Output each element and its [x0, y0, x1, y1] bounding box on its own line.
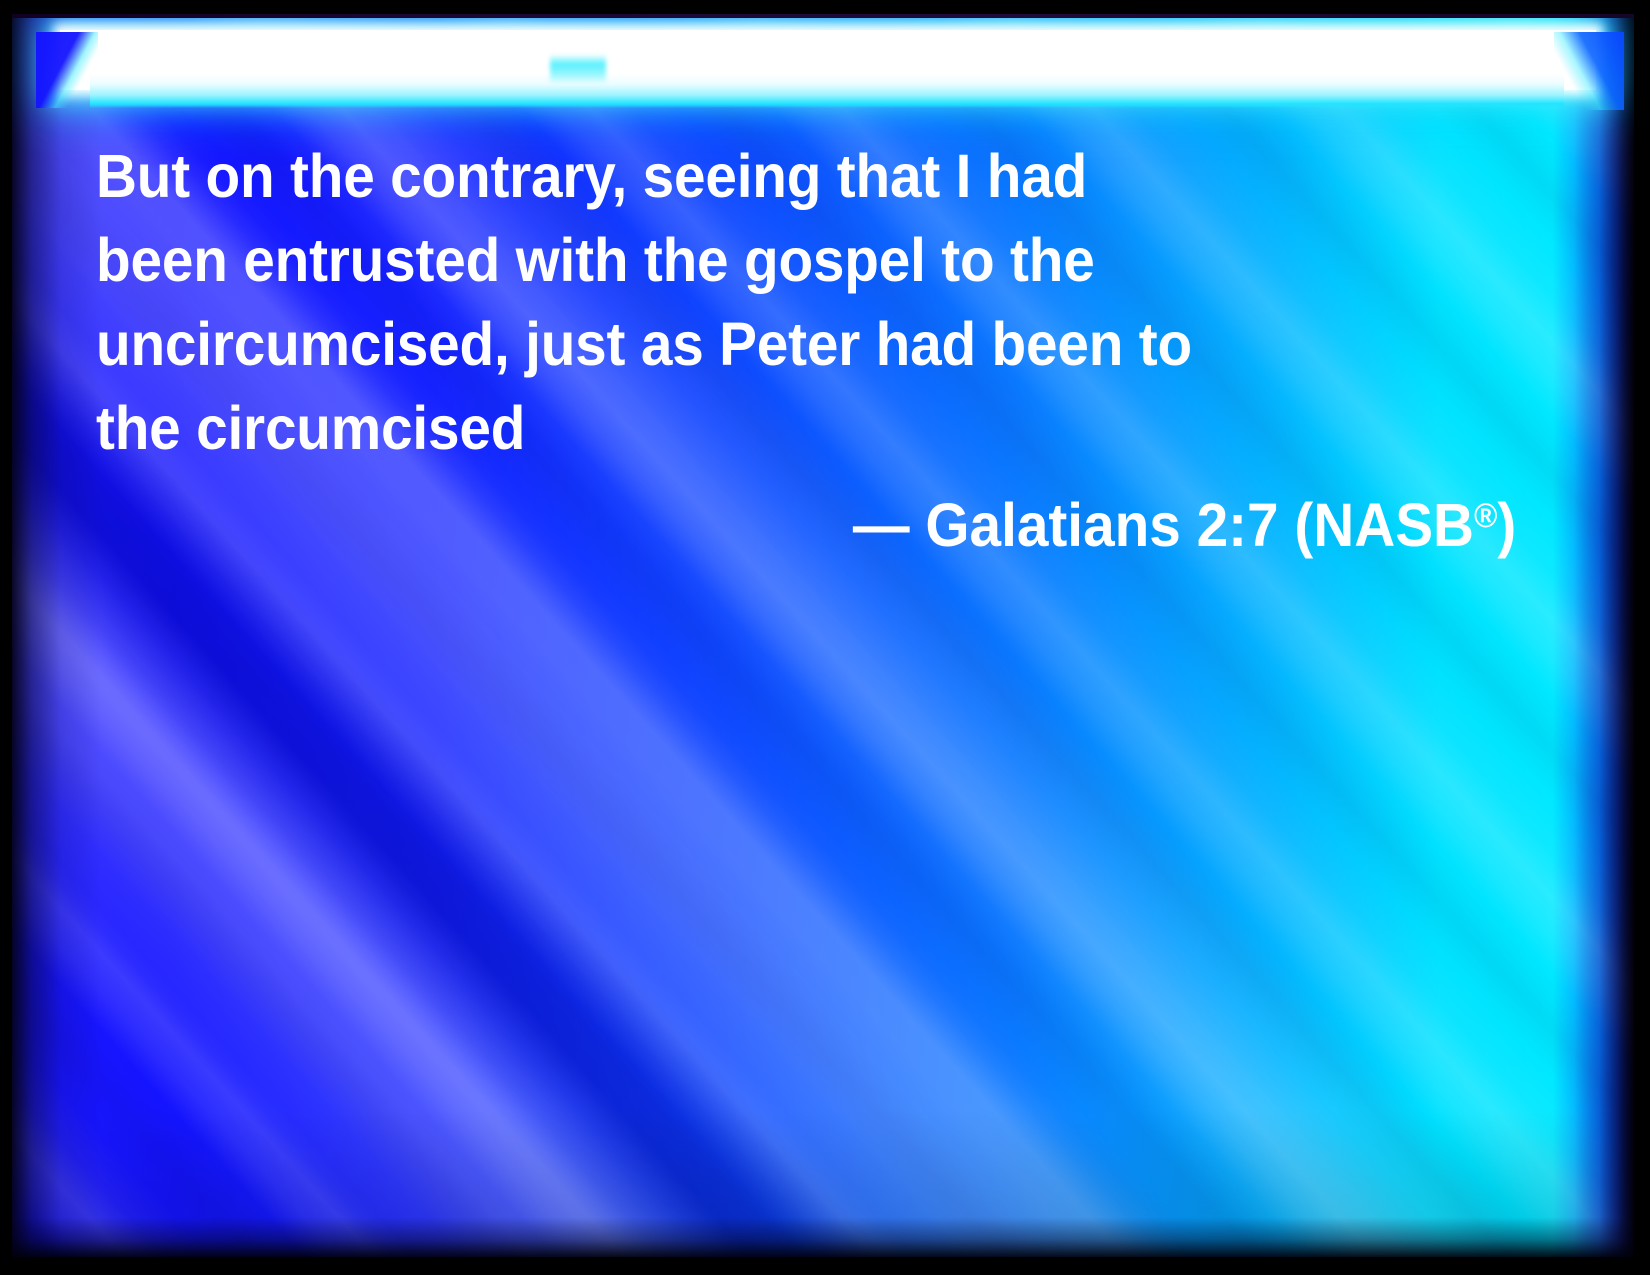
slide-background-panel: But on the contrary, seeing that I had b…: [12, 14, 1634, 1257]
verse-slide: But on the contrary, seeing that I had b…: [0, 0, 1650, 1275]
verse-text-block: But on the contrary, seeing that I had b…: [96, 134, 1496, 470]
verse-line-3: uncircumcised, just as Peter had been to: [96, 302, 1398, 386]
glow-bar-right-taper: [1554, 32, 1624, 110]
verse-line-2: been entrusted with the gospel to the: [96, 218, 1398, 302]
attribution-open-paren: (: [1294, 491, 1313, 559]
attribution-inner: — Galatians 2:7 (NASB®): [853, 474, 1516, 567]
attribution-em-dash: —: [853, 491, 910, 559]
verse-attribution: — Galatians 2:7 (NASB®): [96, 474, 1516, 567]
glow-bar-cyan-bump: [550, 54, 606, 84]
attribution-close-paren: ): [1497, 491, 1516, 559]
attribution-reference: Galatians 2:7: [925, 491, 1278, 559]
attribution-spacer-1: [909, 491, 925, 559]
attribution-translation: NASB: [1313, 491, 1474, 559]
attribution-spacer-2: [1278, 491, 1294, 559]
background-left-vignette: [12, 14, 102, 1257]
top-edge-rule: [12, 14, 1634, 18]
registered-trademark-icon: ®: [1474, 497, 1497, 535]
background-right-vignette: [1574, 14, 1634, 1257]
top-glow-band: [12, 14, 1634, 126]
verse-line-4: the circumcised: [96, 386, 1398, 470]
verse-line-1: But on the contrary, seeing that I had: [96, 134, 1398, 218]
glow-bar-left-taper: [36, 32, 98, 108]
background-bottom-vignette: [12, 1217, 1634, 1257]
glow-bar-shoulder: [90, 74, 1564, 108]
